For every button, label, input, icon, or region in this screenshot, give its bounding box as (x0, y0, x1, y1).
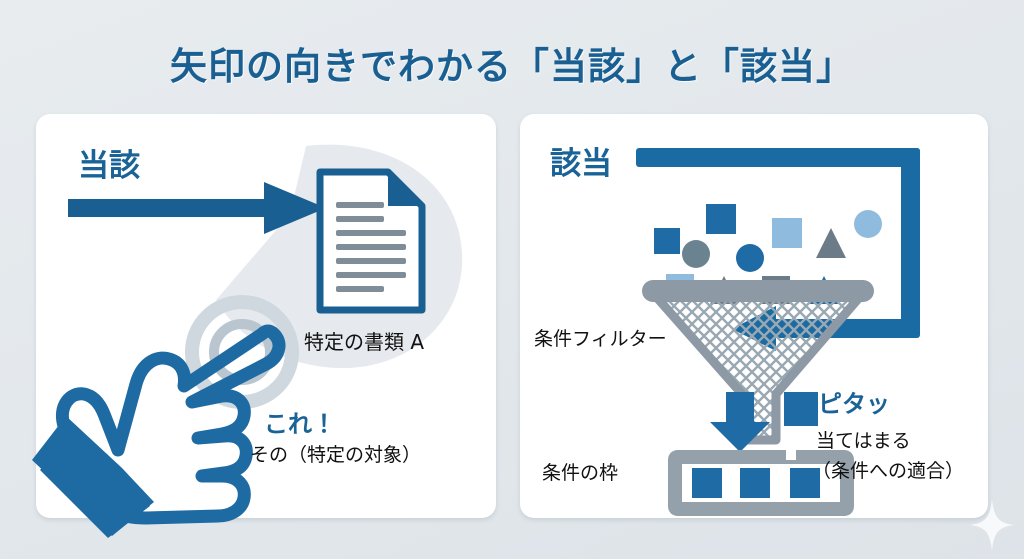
falling-square (784, 392, 818, 426)
accent-kore: これ！ (264, 404, 336, 439)
frame-squares (692, 468, 820, 498)
frame-label: 条件の枠 (542, 458, 618, 485)
shape-circle (736, 244, 764, 272)
shape-circle (854, 210, 882, 238)
shape-square (772, 218, 802, 248)
note-atehamaru: 当てはまる (816, 426, 911, 453)
right-arrow-icon (68, 178, 334, 238)
note-tekigou: （条件への適合） (812, 456, 964, 483)
shape-square (654, 228, 680, 254)
shape-square (706, 204, 736, 234)
panel-tougai: 当該 特定の書類 A (36, 114, 496, 518)
document-icon (314, 166, 432, 316)
document-label: 特定の書類 A (304, 326, 424, 355)
infographic-canvas: 矢印の向きでわかる「当該」と「該当」 当該 (0, 0, 1024, 559)
funnel-label: 条件フィルター (534, 324, 667, 351)
sparkle-icon (970, 499, 1014, 551)
accent-pitatto: ピタッ (818, 384, 890, 419)
shape-circle (682, 240, 710, 268)
headword-gaitou: 該当 (550, 138, 612, 183)
note-sono: その（特定の対象） (250, 440, 421, 467)
page-title: 矢印の向きでわかる「当該」と「該当」 (0, 36, 1024, 90)
shape-triangle (816, 228, 846, 258)
panel-gaitou: 該当 (520, 114, 988, 518)
